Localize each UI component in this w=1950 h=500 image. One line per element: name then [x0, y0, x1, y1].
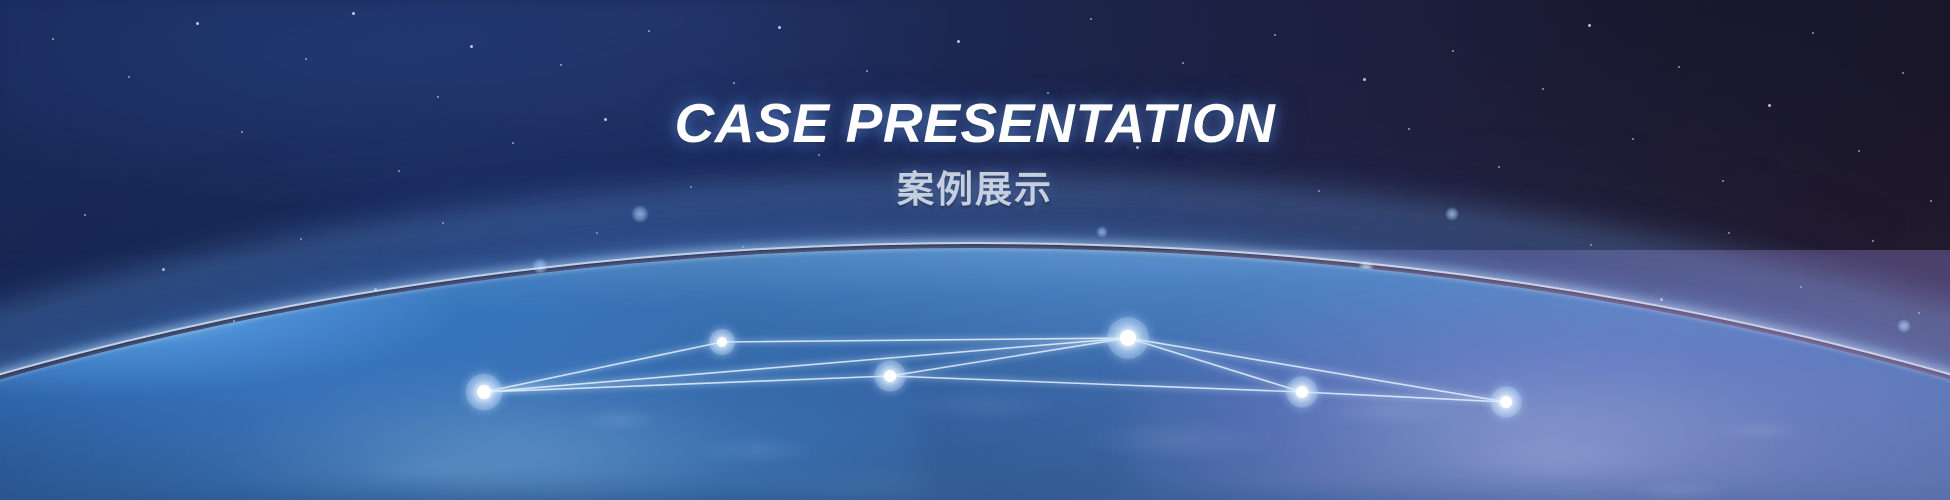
- network-node: [1296, 386, 1308, 398]
- network-node: [477, 385, 491, 399]
- network-node: [884, 370, 896, 382]
- network-overlay: [0, 0, 1950, 500]
- case-presentation-banner: CASE PRESENTATION 案例展示: [0, 0, 1950, 500]
- page-subtitle: 案例展示: [0, 171, 1950, 208]
- network-link: [890, 376, 1302, 392]
- network-link: [890, 338, 1128, 376]
- network-node: [717, 337, 727, 347]
- network-nodes: [466, 317, 1522, 417]
- network-node: [1500, 396, 1512, 408]
- network-node: [1120, 330, 1136, 346]
- network-link: [722, 338, 1128, 342]
- network-link: [484, 338, 1128, 392]
- headline-block: CASE PRESENTATION 案例展示: [0, 96, 1950, 208]
- network-link: [1128, 338, 1302, 392]
- network-svg: [0, 0, 1950, 500]
- page-title: CASE PRESENTATION: [0, 96, 1950, 151]
- network-links: [484, 338, 1506, 402]
